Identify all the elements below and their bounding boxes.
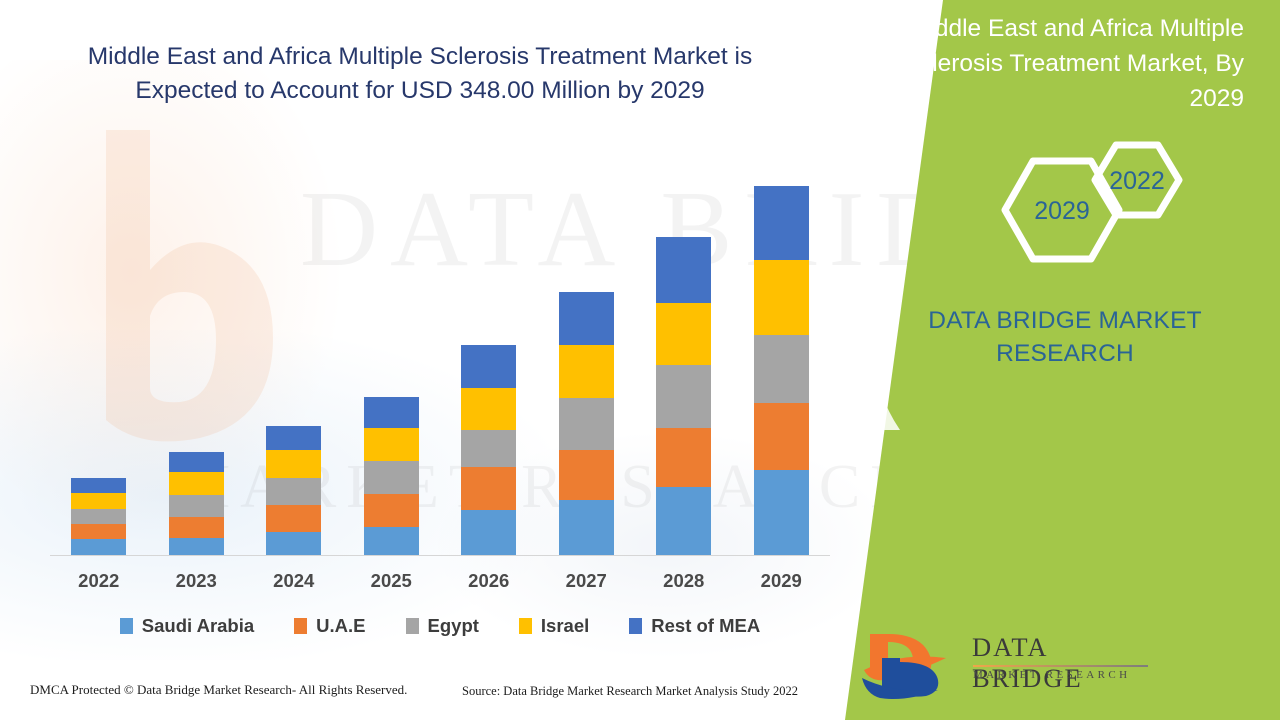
bar-segment-israel[interactable]: [656, 303, 711, 365]
bar-segment-u-a-e[interactable]: [266, 505, 321, 532]
footer: DMCA Protected © Data Bridge Market Rese…: [0, 682, 860, 712]
side-panel: Middle East and Africa Multiple Sclerosi…: [845, 0, 1280, 720]
legend-swatch-icon: [519, 618, 532, 634]
chart-legend: Saudi ArabiaU.A.EEgyptIsraelRest of MEA: [50, 615, 830, 637]
bar-segment-u-a-e[interactable]: [656, 428, 711, 487]
bar-segment-saudi-arabia[interactable]: [71, 539, 126, 555]
stacked-bar[interactable]: [364, 397, 419, 555]
chart-infographic: DATA BRIDGE MARKET RESEARCH Middle East …: [0, 0, 1280, 720]
bar-segment-u-a-e[interactable]: [559, 450, 614, 500]
bar-column: [343, 150, 440, 555]
stacked-bar[interactable]: [169, 452, 224, 555]
plot-area: [50, 150, 830, 556]
bar-segment-rest-of-mea[interactable]: [656, 237, 711, 303]
bar-segment-u-a-e[interactable]: [461, 467, 516, 510]
bar-segment-egypt[interactable]: [754, 335, 809, 403]
bar-segment-saudi-arabia[interactable]: [754, 470, 809, 555]
bar-segment-rest-of-mea[interactable]: [266, 426, 321, 450]
bar-segment-rest-of-mea[interactable]: [461, 345, 516, 388]
x-axis-label: 2027: [538, 570, 635, 592]
bar-segment-israel[interactable]: [169, 472, 224, 495]
legend-swatch-icon: [629, 618, 642, 634]
stacked-bar[interactable]: [71, 478, 126, 555]
logo-subtitle: MARKET RESEARCH: [973, 669, 1130, 681]
x-axis-label: 2028: [635, 570, 732, 592]
stacked-bar[interactable]: [559, 292, 614, 555]
bar-column: [440, 150, 537, 555]
legend-item[interactable]: Saudi Arabia: [120, 615, 254, 637]
footer-source: Source: Data Bridge Market Research Mark…: [462, 684, 798, 699]
bar-segment-egypt[interactable]: [71, 509, 126, 524]
bar-segment-rest-of-mea[interactable]: [71, 478, 126, 493]
x-axis-label: 2023: [148, 570, 245, 592]
stacked-bar[interactable]: [266, 426, 321, 555]
stacked-bar[interactable]: [461, 345, 516, 555]
logo-divider: [973, 665, 1148, 667]
hexagon-2022-label: 2022: [1109, 167, 1165, 195]
bar-column: [538, 150, 635, 555]
bar-segment-rest-of-mea[interactable]: [169, 452, 224, 472]
x-axis-label: 2024: [245, 570, 342, 592]
bar-segment-israel[interactable]: [266, 450, 321, 478]
hexagon-2029-label: 2029: [1034, 197, 1090, 225]
bar-segment-saudi-arabia[interactable]: [461, 510, 516, 555]
legend-item[interactable]: Israel: [519, 615, 589, 637]
legend-label: Israel: [541, 615, 589, 637]
legend-label: U.A.E: [316, 615, 365, 637]
bar-segment-rest-of-mea[interactable]: [364, 397, 419, 428]
stacked-bar[interactable]: [754, 186, 809, 555]
legend-label: Rest of MEA: [651, 615, 760, 637]
legend-label: Egypt: [428, 615, 479, 637]
x-axis-label: 2025: [343, 570, 440, 592]
bar-column: [148, 150, 245, 555]
x-axis-label: 2029: [733, 570, 830, 592]
bar-segment-egypt[interactable]: [461, 430, 516, 467]
bar-segment-saudi-arabia[interactable]: [559, 500, 614, 555]
data-bridge-logo[interactable]: DATA BRIDGE MARKET RESEARCH: [860, 628, 1160, 700]
bar-segment-u-a-e[interactable]: [754, 403, 809, 470]
bar-segment-saudi-arabia[interactable]: [266, 532, 321, 555]
bar-segment-rest-of-mea[interactable]: [754, 186, 809, 260]
legend-label: Saudi Arabia: [142, 615, 254, 637]
footer-copyright: DMCA Protected © Data Bridge Market Rese…: [30, 682, 407, 698]
stacked-bar[interactable]: [656, 237, 711, 555]
bar-segment-saudi-arabia[interactable]: [656, 487, 711, 555]
bar-segment-israel[interactable]: [364, 428, 419, 461]
bar-segment-egypt[interactable]: [656, 365, 711, 428]
bar-segment-egypt[interactable]: [266, 478, 321, 505]
legend-swatch-icon: [294, 618, 307, 634]
bar-segment-u-a-e[interactable]: [169, 517, 224, 538]
hexagon-badges: 2029 2022: [985, 125, 1235, 295]
bar-column: [245, 150, 342, 555]
legend-item[interactable]: U.A.E: [294, 615, 365, 637]
x-axis-line: [50, 555, 830, 557]
bar-segment-egypt[interactable]: [364, 461, 419, 494]
bar-column: [635, 150, 732, 555]
bar-segment-saudi-arabia[interactable]: [169, 538, 224, 555]
legend-swatch-icon: [120, 618, 133, 634]
bar-column: [50, 150, 147, 555]
side-panel-title: Middle East and Africa Multiple Sclerosi…: [884, 12, 1244, 116]
x-axis-labels: 20222023202420252026202720282029: [50, 570, 830, 592]
bar-segment-israel[interactable]: [71, 493, 126, 509]
bar-segment-egypt[interactable]: [559, 398, 614, 450]
bar-column: [733, 150, 830, 555]
logo-title: DATA BRIDGE: [972, 632, 1160, 694]
legend-swatch-icon: [406, 618, 419, 634]
bar-segment-israel[interactable]: [559, 345, 614, 398]
x-axis-label: 2022: [50, 570, 147, 592]
bar-group: [50, 150, 830, 555]
bar-segment-egypt[interactable]: [169, 495, 224, 517]
bar-segment-rest-of-mea[interactable]: [559, 292, 614, 345]
bar-segment-u-a-e[interactable]: [364, 494, 419, 527]
x-axis-label: 2026: [440, 570, 537, 592]
side-panel-brand: DATA BRIDGE MARKET RESEARCH: [870, 305, 1260, 370]
data-bridge-logo-mark-icon: [860, 628, 965, 700]
bar-segment-israel[interactable]: [461, 388, 516, 430]
legend-item[interactable]: Egypt: [406, 615, 479, 637]
legend-item[interactable]: Rest of MEA: [629, 615, 760, 637]
chart-title: Middle East and Africa Multiple Sclerosi…: [40, 40, 800, 108]
bar-segment-u-a-e[interactable]: [71, 524, 126, 539]
bar-segment-saudi-arabia[interactable]: [364, 527, 419, 555]
bar-segment-israel[interactable]: [754, 260, 809, 335]
